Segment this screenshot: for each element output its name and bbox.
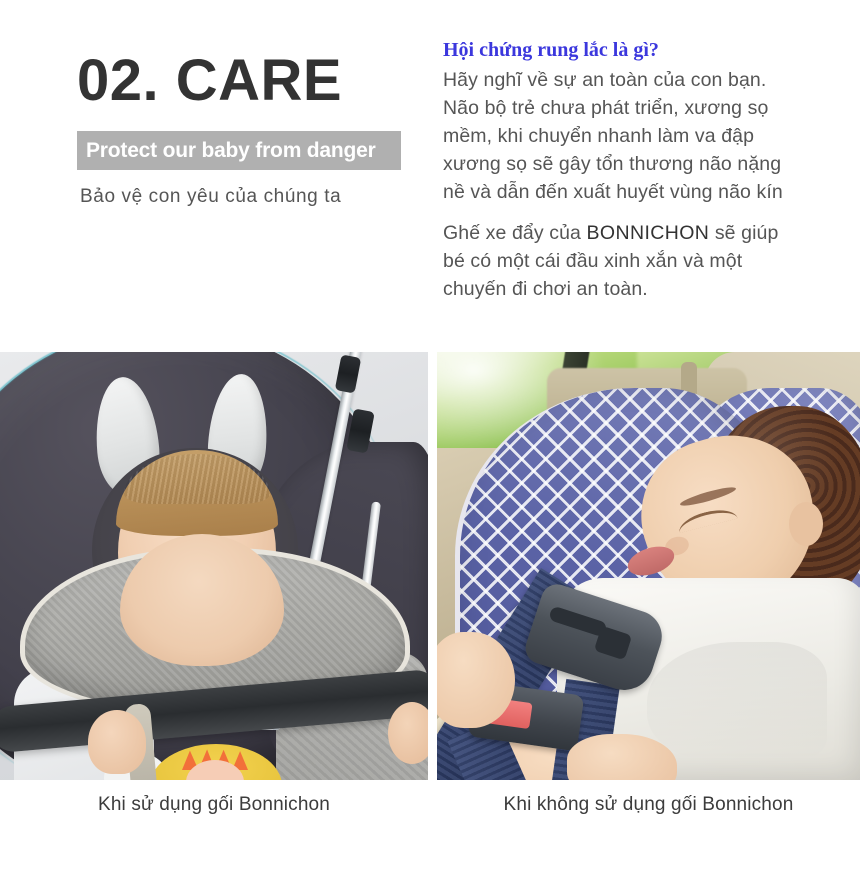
baby-hand-left — [88, 710, 146, 774]
paragraph-two-line-one: Ghế xe đẩy của BONNICHON sẽ giúp — [443, 219, 843, 247]
photo-with-pillow-image — [0, 352, 428, 780]
caption-without-pillow: Khi không sử dụng gối Bonnichon — [437, 794, 860, 816]
shirt-fold-shadow — [647, 642, 827, 762]
baby-hand-right — [388, 702, 428, 764]
header-left-column: 02. CARE Protect our baby from danger Bả… — [0, 0, 430, 352]
paragraph-one-line: Não bộ trẻ chưa phát triển, xương sọ — [443, 94, 843, 122]
paragraph-two-line: chuyến đi chơi an toàn. — [443, 275, 843, 303]
text-before-brand: Ghế xe đẩy của — [443, 222, 587, 244]
paragraph-one: Hãy nghĩ về sự an toàn của con bạn. Não … — [443, 66, 843, 206]
paragraph-two: Ghế xe đẩy của BONNICHON sẽ giúp bé có m… — [443, 219, 843, 303]
care-section-page: 02. CARE Protect our baby from danger Bả… — [0, 0, 860, 873]
photo-without-pillow — [437, 352, 860, 780]
photo-with-pillow — [0, 352, 428, 780]
paragraph-one-line: Hãy nghĩ về sự an toàn của con bạn. — [443, 66, 843, 94]
page-title: 02. CARE — [77, 52, 342, 110]
paragraph-one-line: xương sọ sẽ gây tổn thương não nặng — [443, 150, 843, 178]
text-after-brand: sẽ giúp — [709, 222, 778, 244]
photo-captions: Khi sử dụng gối Bonnichon Khi không sử d… — [0, 780, 860, 873]
top-section: 02. CARE Protect our baby from danger Bả… — [0, 0, 860, 352]
header-right-column: Hội chứng rung lắc là gì? Hãy nghĩ về sự… — [443, 0, 843, 352]
photo-without-pillow-image — [437, 352, 860, 780]
brand-name: BONNICHON — [587, 222, 710, 244]
tagline-en-text: Protect our baby from danger — [77, 139, 376, 163]
child-ear — [789, 502, 823, 546]
question-heading: Hội chứng rung lắc là gì? — [443, 38, 659, 62]
paragraph-one-line: nề và dẫn đến xuất huyết vùng não kín — [443, 178, 843, 206]
tagline-bar: Protect our baby from danger — [77, 131, 401, 170]
subtitle-vietnamese: Bảo vệ con yêu của chúng ta — [80, 186, 341, 208]
photo-comparison-strip — [0, 352, 860, 780]
paragraph-one-line: mềm, khi chuyển nhanh làm va đập — [443, 122, 843, 150]
caption-with-pillow: Khi sử dụng gối Bonnichon — [0, 794, 428, 816]
paragraph-two-line: bé có một cái đầu xinh xắn và một — [443, 247, 843, 275]
